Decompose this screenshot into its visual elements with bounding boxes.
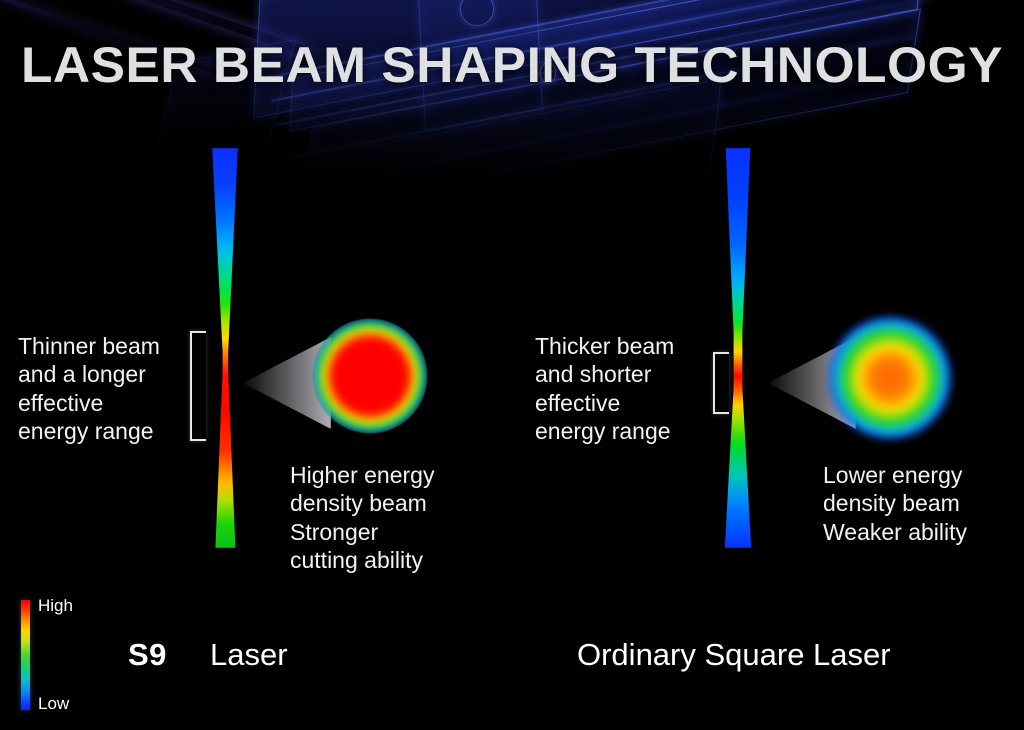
ordinary-beam-spot-heatmap <box>828 316 952 440</box>
laser-engraver-wireframe-art <box>0 0 1024 210</box>
colorbar-low-label: Low <box>38 694 69 714</box>
ordinary-product-label: Ordinary Square Laser <box>577 637 891 673</box>
s9-density-callout: Higher energy density beam Stronger cutt… <box>290 461 520 574</box>
s9-product-prefix: S9 <box>128 637 167 673</box>
ordinary-density-callout: Lower energy density beam Weaker ability <box>823 461 1024 546</box>
ordinary-range-callout: Thicker beam and shorter effective energ… <box>535 332 735 445</box>
colorbar-high-label: High <box>38 596 73 616</box>
infographic-canvas: LASER BEAM SHAPING TECHNOLOGY Thinner be… <box>0 0 1024 730</box>
page-title: LASER BEAM SHAPING TECHNOLOGY <box>0 36 1024 94</box>
s9-beam-spot-heatmap <box>312 318 428 434</box>
s9-product-label: Laser <box>210 637 288 673</box>
colorbar-gradient <box>21 600 30 710</box>
s9-range-callout: Thinner beam and a longer effective ener… <box>18 332 208 445</box>
energy-colorbar-legend: High Low <box>18 596 138 714</box>
